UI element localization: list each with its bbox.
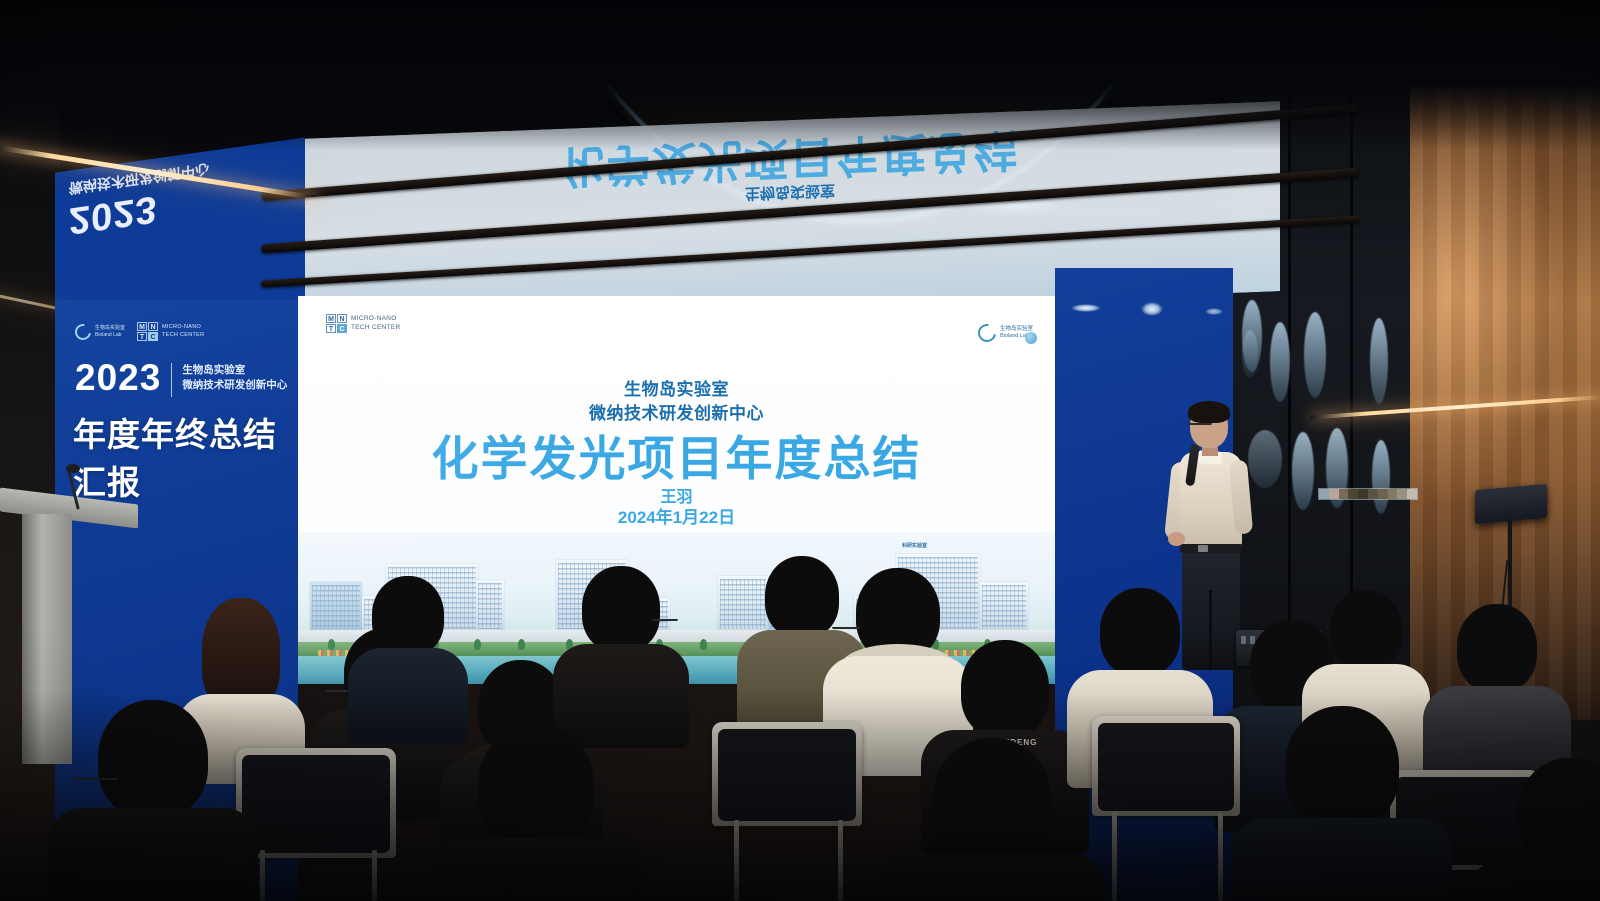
- slide-date: 2024年1月22日: [298, 503, 1055, 528]
- person-head: [372, 576, 444, 656]
- audience-member: [58, 700, 248, 901]
- person-head: [1100, 588, 1180, 676]
- person-head: [582, 566, 660, 652]
- chair-leg: [838, 820, 843, 901]
- slide-mntc-logo: M N T C MICRO-NANO TECH CENTER: [326, 314, 401, 333]
- person-body: [425, 838, 647, 901]
- audience-member: [892, 738, 1092, 901]
- mntc-label-line1: MICRO-NANO: [162, 324, 201, 330]
- slide-org-line1: 生物岛实验室: [624, 380, 729, 399]
- slide-mntc-grid-icon: M N T C: [326, 314, 347, 333]
- chair-leg: [1218, 812, 1223, 901]
- chair: [712, 722, 862, 826]
- mntc-letter-c: C: [148, 332, 158, 341]
- slide-mntc-letter-m: M: [326, 314, 336, 323]
- presenter-hand: [1168, 532, 1185, 546]
- slide-bioland-label-cn: 生物岛实验室: [1000, 326, 1033, 332]
- slide-swirl-icon: [974, 320, 999, 345]
- bioland-label-en: Bioland Lab: [95, 332, 121, 338]
- campus-building-label: 科研实验室: [902, 542, 927, 549]
- audience-member: [436, 724, 636, 901]
- bioland-lab-logo: 生物岛实验室 Bioland Lab: [75, 324, 125, 340]
- person-glasses: [72, 770, 118, 780]
- mntc-label-line2: TECH CENTER: [162, 332, 204, 338]
- banner-logo-row: 生物岛实验室 Bioland Lab M N T C MICRO-NANO TE…: [75, 322, 204, 341]
- bioland-label-cn: 生物岛实验室: [95, 325, 125, 331]
- chair: [236, 748, 396, 858]
- person-head: [1285, 706, 1399, 828]
- slide-mntc-label-line2: TECH CENTER: [351, 324, 401, 331]
- mntc-letter-m: M: [137, 322, 147, 331]
- color-swatch-strip: [1318, 488, 1418, 500]
- podium-microphone-head: [66, 464, 80, 473]
- person-head: [933, 738, 1051, 864]
- mntc-letter-t: T: [137, 332, 147, 341]
- audience-member: [556, 566, 686, 746]
- person-head: [961, 640, 1049, 738]
- slide-subtitle: 生物岛实验室 微纳技术研发创新中心: [298, 378, 1055, 426]
- mntc-logo: M N T C MICRO-NANO TECH CENTER: [137, 322, 204, 341]
- person-glasses: [832, 622, 860, 629]
- person-head: [1518, 758, 1600, 868]
- conference-photo: 化学发光项目年度总结 生物岛实验室 2023 微纳技术研发创新中心 生物岛实验室…: [0, 0, 1600, 901]
- left-mirror-wall: [0, 0, 60, 901]
- chair-leg: [372, 850, 377, 901]
- person-body: [48, 808, 258, 901]
- slide-title: 化学发光项目年度总结: [298, 420, 1055, 489]
- banner-headline: 年度年终总结汇报: [73, 408, 298, 504]
- person-head: [478, 724, 594, 848]
- person-body: [879, 854, 1105, 901]
- presenter-belt: [1180, 544, 1242, 553]
- swirl-icon: [72, 320, 94, 342]
- slide-mntc-letter-n: N: [337, 314, 347, 323]
- slide-mntc-letter-t: T: [326, 324, 336, 333]
- banner-org-line1: 生物岛实验室: [182, 364, 245, 376]
- person-head: [98, 700, 208, 818]
- person-head: [1330, 590, 1402, 670]
- banner-org-line2: 微纳技术研发创新中心: [182, 379, 287, 391]
- banner-year-block: 2023 生物岛实验室 微纳技术研发创新中心: [75, 360, 287, 397]
- chair: [1092, 716, 1240, 816]
- banner-divider: [171, 363, 172, 397]
- person-body: [1470, 858, 1600, 901]
- mntc-grid-icon: M N T C: [137, 322, 158, 341]
- person-head: [1457, 604, 1537, 692]
- slide-mntc-letter-c: C: [337, 324, 347, 333]
- person-body: [1232, 818, 1452, 901]
- slide-mntc-label-line1: MICRO-NANO: [351, 315, 397, 322]
- chair-leg: [734, 820, 739, 901]
- chair-leg: [260, 850, 265, 901]
- slide-decor-dot: [1025, 332, 1037, 344]
- audience-member: [1244, 706, 1440, 901]
- person-glasses: [652, 614, 678, 621]
- chair-leg: [1112, 812, 1117, 901]
- mntc-letter-n: N: [148, 322, 158, 331]
- presenter-glasses: [1188, 419, 1212, 425]
- banner-year: 2023: [75, 360, 161, 395]
- audience-member: [1480, 758, 1600, 901]
